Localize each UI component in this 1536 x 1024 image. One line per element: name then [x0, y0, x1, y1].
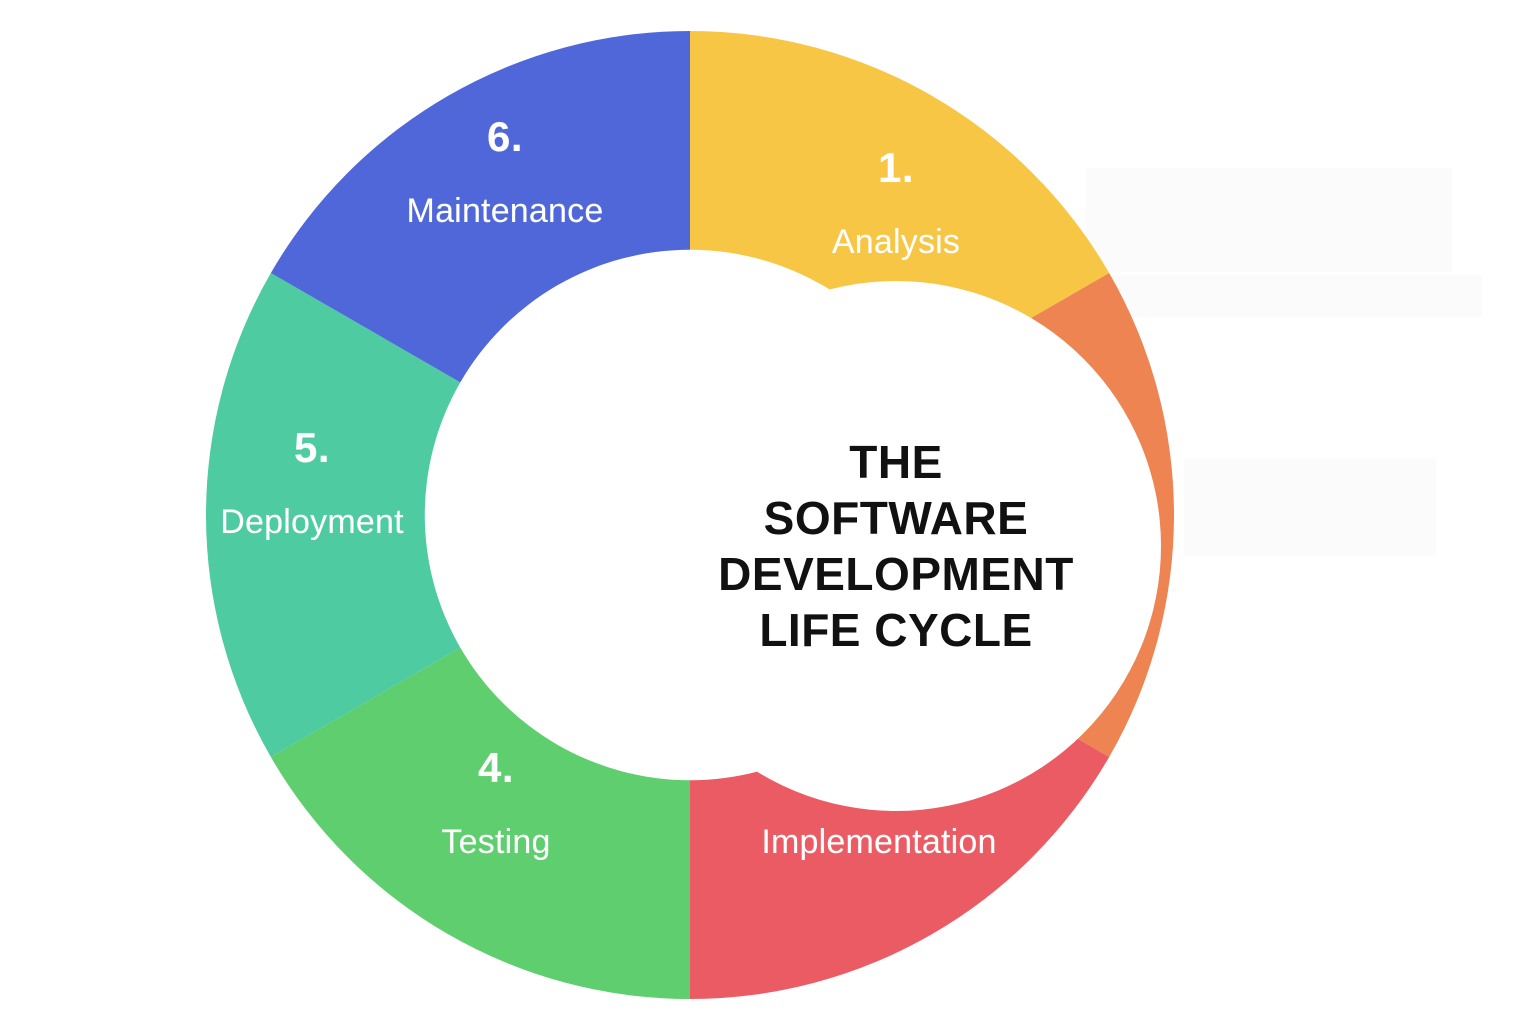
donut-center-hub: THE SOFTWARE DEVELOPMENT LIFE CYCLE: [631, 281, 1161, 811]
background-placeholder-block: [1184, 458, 1436, 556]
diagram-canvas: 1. Analysis 2. UI/UX Design 3. Implement…: [0, 0, 1536, 1024]
page-title: THE SOFTWARE DEVELOPMENT LIFE CYCLE: [718, 434, 1074, 658]
sdlc-donut-chart: 1. Analysis 2. UI/UX Design 3. Implement…: [206, 31, 1174, 999]
